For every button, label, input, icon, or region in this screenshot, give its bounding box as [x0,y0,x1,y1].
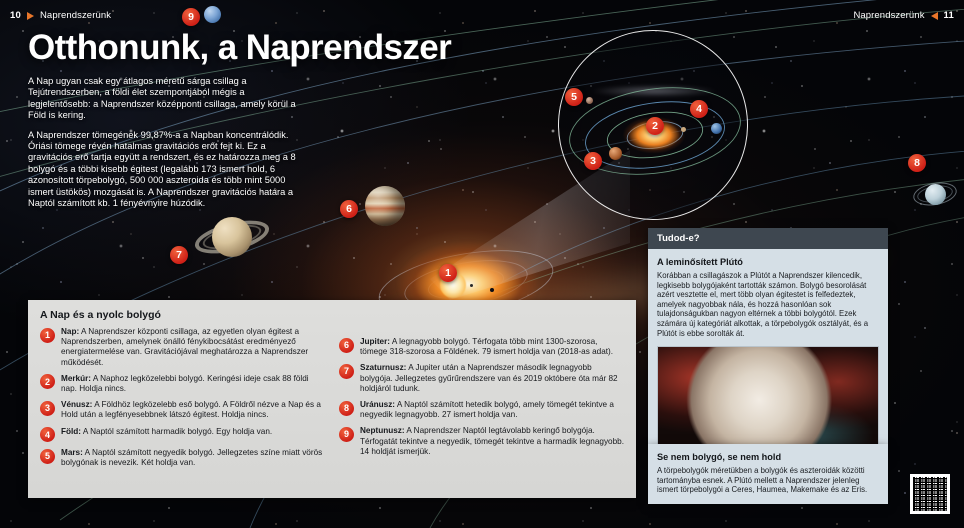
entry-body: A Naphoz legközelebbi bolygó. Keringési … [61,374,309,393]
page-number-left: 10 [10,10,21,21]
inset-planet-mercury [681,127,686,132]
panel-dwarf-planets: Se nem bolygó, se nem hold A törpebolygó… [648,444,888,504]
marker-1-nap[interactable]: 1 [439,264,457,282]
panel-planets-column-right: 6 Jupiter: A legnagyobb bolygó. Térfogat… [339,327,624,475]
entry-name: Vénusz: [61,400,92,409]
panel-did-you-know: Tudod-e? A leminősített Plútó Korábban a… [648,228,888,459]
inset-planet-mars [586,97,593,104]
entry-marker: 8 [339,401,354,416]
entry-marker: 9 [339,427,354,442]
header-left: 10 Naprendszerünk [10,10,111,21]
entry-text: Nap: A Naprendszer központi csillaga, az… [61,327,325,368]
intro-paragraph-1: A Nap ugyan csak egy átlagos méretű sárg… [28,76,296,122]
inset-planet-earth [711,123,722,134]
qr-code-pattern [913,477,947,511]
chevron-left-icon[interactable] [931,12,938,20]
entry-marker: 2 [40,374,55,389]
qr-code[interactable] [910,474,950,514]
entry-text: Mars: A Naptól számított negyedik bolygó… [61,448,325,468]
entry-name: Nap: [61,327,79,336]
panel-planets-heading: A Nap és a nyolc bolygó [40,309,624,321]
pluto-photo [657,346,879,450]
panel-did-you-know-bar: Tudod-e? [648,228,888,249]
page-title: Otthonunk, a Naprendszer [28,28,451,68]
chevron-right-icon[interactable] [27,12,34,20]
entry-marker: 4 [40,427,55,442]
panel-dwarf-planets-text: A törpebolygók méretükben a bolygók és a… [657,466,879,495]
page-spread: 10 Naprendszerünk Naprendszerünk 11 Otth… [0,0,964,528]
entry-body: A Földhöz legközelebb eső bolygó. A Föld… [61,400,321,419]
entry-name: Jupiter: [360,337,390,346]
inner-planet-dot-b [490,288,494,292]
entry-text: Szaturnusz: A Jupiter után a Naprendszer… [360,363,624,394]
section-label-left: Naprendszerünk [40,10,111,21]
entry-text: Föld: A Naptól számított harmadik bolygó… [61,427,272,443]
marker-7-szaturnusz[interactable]: 7 [170,246,188,264]
marker-4-fold[interactable]: 4 [690,100,708,118]
entry-text: Vénusz: A Földhöz legközelebb eső bolygó… [61,400,325,420]
panel-did-you-know-heading: A leminősített Plútó [657,257,879,267]
intro-paragraph-2: A Naprendszer tömegének 99,87%-a a Napba… [28,130,296,210]
marker-8-uranusz[interactable]: 8 [908,154,926,172]
entry-body: A Naptól számított hetedik bolygó, amely… [360,400,614,419]
entry-marker: 1 [40,328,55,343]
planet-entry[interactable]: 2 Merkúr: A Naphoz legközelebbi bolygó. … [40,374,325,394]
planet-entry[interactable]: 1 Nap: A Naprendszer központi csillaga, … [40,327,325,368]
header-right: Naprendszerünk 11 [853,10,954,21]
planet-entry[interactable]: 7 Szaturnusz: A Jupiter után a Naprendsz… [339,363,624,394]
entry-marker: 6 [339,338,354,353]
entry-body: A legnagyobb bolygó. Térfogata több mint… [360,337,613,356]
panel-planets: A Nap és a nyolc bolygó 1 Nap: A Naprend… [28,300,636,498]
entry-name: Föld: [61,427,81,436]
entry-marker: 7 [339,364,354,379]
entry-name: Mars: [61,448,83,457]
entry-marker: 5 [40,449,55,464]
planet-entry[interactable]: 8 Uránusz: A Naptól számított hetedik bo… [339,400,624,420]
planet-saturn [190,205,274,269]
panel-dwarf-planets-heading: Se nem bolygó, se nem hold [657,452,879,462]
planet-entry[interactable]: 4 Föld: A Naptól számított harmadik boly… [40,427,325,443]
inner-planet-dot-a [470,284,473,287]
entry-body: A Naprendszer központi csillaga, az egye… [61,327,308,367]
intro-text: A Nap ugyan csak egy átlagos méretű sárg… [28,76,296,209]
inset-planet-venus [609,147,622,160]
entry-marker: 3 [40,401,55,416]
marker-5-mars[interactable]: 5 [565,88,583,106]
entry-name: Neptunusz: [360,426,405,435]
planet-entry[interactable]: 3 Vénusz: A Földhöz legközelebb eső boly… [40,400,325,420]
entry-text: Uránusz: A Naptól számított hetedik boly… [360,400,624,420]
marker-6-jupiter[interactable]: 6 [340,200,358,218]
section-label-right: Naprendszerünk [853,10,924,21]
entry-text: Jupiter: A legnagyobb bolygó. Térfogata … [360,337,624,357]
entry-body: A Naptól számított harmadik bolygó. Egy … [81,427,272,436]
planet-entry[interactable]: 5 Mars: A Naptól számított negyedik boly… [40,448,325,468]
entry-name: Szaturnusz: [360,363,406,372]
entry-text: Neptunusz: A Naprendszer Naptól legtávol… [360,426,624,457]
marker-3-venusz[interactable]: 3 [584,152,602,170]
planet-uranus [912,176,958,212]
planet-neptune [204,6,221,23]
panel-planets-column-left: 1 Nap: A Naprendszer központi csillaga, … [40,327,325,475]
planet-jupiter [365,186,405,226]
entry-name: Uránusz: [360,400,395,409]
marker-2-merkur[interactable]: 2 [646,117,664,135]
entry-text: Merkúr: A Naphoz legközelebbi bolygó. Ke… [61,374,325,394]
marker-9-neptunusz[interactable]: 9 [182,8,200,26]
planet-entry[interactable]: 9 Neptunusz: A Naprendszer Naptól legtáv… [339,426,624,457]
panel-did-you-know-text: Korábban a csillagászok a Plútót a Napre… [657,271,879,338]
planet-entry[interactable]: 6 Jupiter: A legnagyobb bolygó. Térfogat… [339,337,624,357]
entry-body: A Naptól számított negyedik bolygó. Jell… [61,448,322,467]
entry-name: Merkúr: [61,374,91,383]
page-number-right: 11 [944,10,954,21]
